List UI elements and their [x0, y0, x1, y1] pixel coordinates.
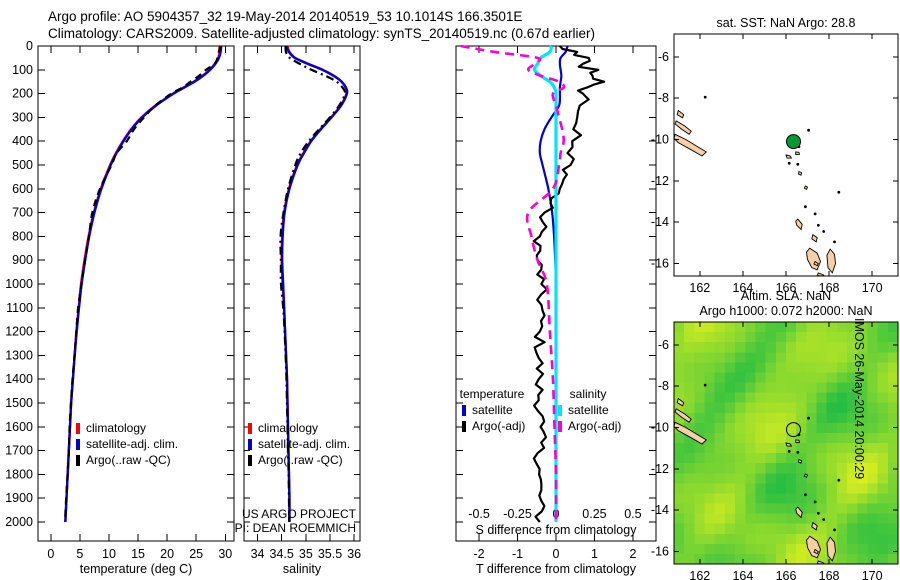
depth-tick-label: 400 [12, 134, 33, 148]
sla-cell [878, 453, 889, 464]
sla-cell [755, 493, 766, 504]
sla-cell [878, 413, 889, 424]
sla-cell [755, 403, 766, 414]
sla-cell [837, 554, 848, 565]
latitude-tick-label: -6 [658, 50, 669, 64]
sla-cell [745, 514, 756, 525]
depth-tick-label: 100 [12, 63, 33, 77]
sla-cell [867, 413, 878, 424]
sla-cell [786, 352, 797, 363]
difference-series-2 [534, 46, 556, 522]
sla-cell [867, 342, 878, 353]
temperature-legend: climatologysatellite-adj. clim.Argo(..ra… [76, 421, 178, 467]
sla-cell [705, 352, 716, 363]
sla-cell [817, 383, 828, 394]
sla-cell [725, 372, 736, 383]
sla-cell [888, 413, 899, 424]
sla-cell [745, 423, 756, 434]
sla-cell [684, 453, 695, 464]
sla-cell [796, 403, 807, 414]
legend-swatch [558, 405, 562, 416]
sla-cell [867, 372, 878, 383]
sla-cell [745, 524, 756, 535]
sla-cell [837, 352, 848, 363]
sla-cell [674, 342, 685, 353]
sla-cell [796, 463, 807, 474]
sla-cell [827, 493, 838, 504]
island-speck [804, 493, 807, 496]
sla-cell [725, 453, 736, 464]
sla-cell [674, 362, 685, 373]
sla-cell [786, 413, 797, 424]
sla-cell [786, 473, 797, 484]
latitude-tick-label: -8 [658, 91, 669, 105]
island-speck [822, 230, 825, 233]
sla-cell [786, 322, 797, 333]
sla-cell [827, 453, 838, 464]
sla-cell [715, 483, 726, 494]
sla-cell [827, 524, 838, 535]
island-speck [704, 384, 707, 387]
sla-cell [766, 514, 777, 525]
sst-map-panel: sat. SST: NaN Argo: 28.8 162164166168170… [640, 10, 900, 300]
sla-cell [674, 443, 685, 454]
sla-cell [715, 342, 726, 353]
sla-cell [735, 322, 746, 333]
sla-cell [878, 493, 889, 504]
sla-cell [817, 332, 828, 343]
sla-cell [766, 554, 777, 565]
sla-cell [837, 544, 848, 555]
sla-cell [867, 362, 878, 373]
sla-cell [725, 493, 736, 504]
sla-cell [694, 332, 705, 343]
sla-cell [867, 393, 878, 404]
sla-cell [684, 504, 695, 515]
sla-cell [837, 453, 848, 464]
sla-cell [878, 403, 889, 414]
sla-cell [867, 524, 878, 535]
sla-cell [755, 413, 766, 424]
sla-cell [817, 362, 828, 373]
sla-cell [725, 534, 736, 545]
sla-cell [806, 383, 817, 394]
sla-cell [755, 362, 766, 373]
longitude-tick-label: 168 [819, 569, 840, 580]
difference-series-3 [461, 46, 564, 522]
sla-cell [694, 383, 705, 394]
sla-cell [735, 483, 746, 494]
sla-cell [888, 443, 899, 454]
sla-cell [705, 362, 716, 373]
sla-cell [837, 383, 848, 394]
sla-cell [725, 322, 736, 333]
sla-cell [735, 403, 746, 414]
sla-cell [735, 423, 746, 434]
sla-cell [827, 332, 838, 343]
sla-cell [755, 393, 766, 404]
sla-cell [694, 473, 705, 484]
sla-cell [715, 524, 726, 535]
sla-cell [806, 362, 817, 373]
difference-series-0 [540, 46, 568, 522]
sla-cell [827, 504, 838, 515]
sla-cell [705, 433, 716, 444]
sla-cell [796, 544, 807, 555]
sla-cell [827, 423, 838, 434]
sla-cell [878, 393, 889, 404]
salinity-tick-label: 34.5 [270, 547, 294, 561]
sla-cell [817, 443, 828, 454]
sla-cell [776, 322, 787, 333]
sla-cell [827, 322, 838, 333]
sla-cell [684, 322, 695, 333]
sla-cell [715, 372, 726, 383]
island-speck [833, 241, 836, 244]
latitude-tick-label: -14 [651, 215, 669, 229]
sla-cell [694, 453, 705, 464]
sla-cell [766, 433, 777, 444]
sla-cell [796, 322, 807, 333]
sla-cell [684, 483, 695, 494]
sla-cell [776, 554, 787, 565]
sla-cell [806, 423, 817, 434]
island-speck [796, 163, 799, 166]
sla-cell [735, 362, 746, 373]
sla-cell [715, 514, 726, 525]
sla-cell [796, 362, 807, 373]
sla-cell [735, 514, 746, 525]
sla-cell [837, 433, 848, 444]
sla-cell [766, 352, 777, 363]
sla-cell [786, 544, 797, 555]
sla-cell [878, 463, 889, 474]
sla-cell [755, 453, 766, 464]
island-speck [814, 213, 817, 216]
sla-cell [776, 393, 787, 404]
s-difference-tick-label: 0.25 [582, 507, 606, 521]
sla-cell [817, 493, 828, 504]
sla-cell [694, 362, 705, 373]
sla-cell [776, 534, 787, 545]
sla-cell [786, 493, 797, 504]
sla-cell [684, 514, 695, 525]
sla-cell [715, 453, 726, 464]
sla-cell [878, 443, 889, 454]
sla-cell [745, 534, 756, 545]
sla-cell [888, 362, 899, 373]
sla-cell [776, 433, 787, 444]
sla-cell [735, 342, 746, 353]
sla-cell [735, 524, 746, 535]
sla-cell [878, 352, 889, 363]
sla-cell [878, 362, 889, 373]
sla-cell [837, 403, 848, 414]
sla-cell [837, 443, 848, 454]
island-speck [833, 529, 836, 532]
depth-tick-label: 2000 [5, 515, 33, 529]
t-difference-tick-label: 2 [629, 547, 636, 561]
sla-cell [745, 372, 756, 383]
depth-tick-label: 800 [12, 229, 33, 243]
sla-cell [755, 352, 766, 363]
sla-cell [674, 524, 685, 535]
sla-cell [878, 534, 889, 545]
legend-swatch [248, 439, 252, 450]
sla-cell [745, 403, 756, 414]
sla-cell [776, 383, 787, 394]
sla-cell [827, 473, 838, 484]
sla-cell [806, 453, 817, 464]
sla-cell [715, 423, 726, 434]
depth-tick-label: 1800 [5, 467, 33, 481]
sla-cell [817, 463, 828, 474]
sla-cell [817, 393, 828, 404]
sla-cell [786, 372, 797, 383]
sla-cell [725, 463, 736, 474]
sla-cell [786, 423, 797, 434]
temperature-tick-label: 15 [131, 547, 145, 561]
legend-label: satellite [568, 403, 609, 417]
sla-cell [684, 393, 695, 404]
sla-cell [837, 362, 848, 373]
sla-cell [796, 332, 807, 343]
sla-cell [684, 443, 695, 454]
sla-cell [705, 514, 716, 525]
sla-cell [715, 433, 726, 444]
legend-label: satellite-adj. clim. [258, 437, 350, 451]
sla-cell [674, 514, 685, 525]
sla-cell [776, 443, 787, 454]
island-polygon [799, 172, 802, 176]
sla-cell [817, 413, 828, 424]
salinity-axis-label: salinity [283, 562, 322, 576]
page-title: Argo profile: AO 5904357_32 19-May-2014 … [48, 8, 595, 42]
sla-cell [725, 362, 736, 373]
sla-cell [674, 554, 685, 565]
sla-cell [817, 342, 828, 353]
sla-cell [806, 483, 817, 494]
sla-cell [745, 332, 756, 343]
sla-cell [735, 352, 746, 363]
sla-cell [735, 332, 746, 343]
depth-tick-label: 300 [12, 110, 33, 124]
sla-cell [735, 463, 746, 474]
sla-cell [684, 403, 695, 414]
sla-cell [806, 463, 817, 474]
depth-tick-label: 700 [12, 206, 33, 220]
salinity-difference-axis-label: S difference from climatology [476, 523, 638, 537]
legend-swatch [248, 455, 252, 466]
credit-line-2: PI: DEAN ROEMMICH [235, 521, 356, 535]
sla-cell [735, 372, 746, 383]
sla-cell [837, 514, 848, 525]
island-speck [822, 518, 825, 521]
sla-cell [725, 342, 736, 353]
legend-swatch [76, 439, 80, 450]
sla-cell [796, 352, 807, 363]
sla-cell [715, 352, 726, 363]
sla-cell [888, 483, 899, 494]
sla-cell [827, 433, 838, 444]
sla-cell [766, 443, 777, 454]
sla-cell [715, 393, 726, 404]
sla-cell [806, 403, 817, 414]
sla-cell [766, 423, 777, 434]
sla-cell [786, 393, 797, 404]
sla-cell [888, 514, 899, 525]
sla-cell [745, 483, 756, 494]
sla-cell [725, 554, 736, 565]
sla-cell [786, 554, 797, 565]
sla-cell [735, 554, 746, 565]
salinity-tick-label: 35 [299, 547, 313, 561]
sla-cell [694, 544, 705, 555]
sla-cell [674, 453, 685, 464]
sla-cell [705, 423, 716, 434]
sla-cell [837, 342, 848, 353]
temperature-difference-axis-label: T difference from climatology [476, 562, 637, 576]
salinity-legend: climatologysatellite-adj. clim.Argo(..ra… [248, 421, 350, 467]
sla-cell [888, 372, 899, 383]
sla-cell [837, 483, 848, 494]
sla-cell [766, 372, 777, 383]
sla-cell [878, 342, 889, 353]
sla-cell [878, 433, 889, 444]
legend-label: satellite-adj. clim. [86, 437, 178, 451]
sla-cell [806, 352, 817, 363]
sla-cell [766, 383, 777, 394]
sla-cell [827, 483, 838, 494]
sla-cell [806, 443, 817, 454]
difference-series-1 [534, 46, 604, 522]
sla-cell [817, 433, 828, 444]
sla-cell [888, 403, 899, 414]
island-speck [788, 450, 791, 453]
sla-cell [705, 322, 716, 333]
sla-cell [684, 473, 695, 484]
sla-cell [776, 483, 787, 494]
sla-cell [827, 403, 838, 414]
sla-cell [694, 443, 705, 454]
sla-cell [715, 322, 726, 333]
sla-cell [806, 393, 817, 404]
sla-cell [766, 393, 777, 404]
sla-cell [776, 493, 787, 504]
sla-cell [888, 453, 899, 464]
sla-cell [888, 524, 899, 535]
sla-map-title-line-1: Altim. SLA: NaN [741, 289, 831, 303]
temperature-profile-panel: 0100200300400500600700800900100011001200… [0, 40, 240, 580]
sla-cell [745, 504, 756, 515]
sla-cell [776, 514, 787, 525]
sla-cell [776, 544, 787, 555]
temperature-tick-label: 5 [76, 547, 83, 561]
sla-cell [786, 483, 797, 494]
legend-swatch [248, 423, 252, 434]
legend-column-title: temperature [460, 387, 525, 401]
sla-cell [817, 483, 828, 494]
sla-cell [878, 332, 889, 343]
sla-cell [755, 473, 766, 484]
sla-cell [766, 413, 777, 424]
island-polygon [796, 440, 800, 443]
depth-tick-label: 500 [12, 158, 33, 172]
sla-cell [766, 403, 777, 414]
sla-cell [837, 493, 848, 504]
legend-swatch [558, 421, 562, 432]
sla-cell [755, 423, 766, 434]
sla-cell [806, 322, 817, 333]
sla-cell [867, 554, 878, 565]
sla-cell [755, 372, 766, 383]
sla-cell [745, 352, 756, 363]
depth-tick-label: 1200 [5, 325, 33, 339]
sla-cell [684, 554, 695, 565]
sla-cell [867, 453, 878, 464]
sla-cell [766, 483, 777, 494]
sla-cell [694, 483, 705, 494]
sla-cell [715, 403, 726, 414]
sla-cell [725, 352, 736, 363]
sla-cell [755, 554, 766, 565]
sla-cell [735, 473, 746, 484]
sla-cell [735, 504, 746, 515]
sla-cell [827, 372, 838, 383]
sla-cell [776, 413, 787, 424]
sla-cell [694, 393, 705, 404]
sla-cell [776, 342, 787, 353]
sla-cell [755, 544, 766, 555]
sla-cell [674, 534, 685, 545]
sla-cell [827, 514, 838, 525]
legend-column-title: salinity [570, 387, 607, 401]
sla-cell [817, 524, 828, 535]
sla-cell [694, 493, 705, 504]
sla-cell [725, 423, 736, 434]
sla-cell [878, 544, 889, 555]
sla-cell [725, 433, 736, 444]
sla-cell [867, 473, 878, 484]
sst-profile-marker[interactable] [787, 135, 801, 149]
sla-cell [827, 463, 838, 474]
sla-cell [837, 423, 848, 434]
sla-cell [806, 433, 817, 444]
sla-cell [867, 332, 878, 343]
sla-cell [766, 524, 777, 535]
sla-cell [735, 534, 746, 545]
sla-cell [776, 362, 787, 373]
sla-cell [684, 463, 695, 474]
sla-cell [735, 433, 746, 444]
temperature-tick-label: 25 [189, 547, 203, 561]
sla-cell [705, 453, 716, 464]
sla-cell [766, 473, 777, 484]
sla-cell [786, 524, 797, 535]
island-speck [837, 191, 840, 194]
sla-cell [755, 534, 766, 545]
sla-cell [674, 372, 685, 383]
sla-cell [725, 483, 736, 494]
sla-cell [827, 383, 838, 394]
temperature-tick-label: 20 [160, 547, 174, 561]
sla-cell [735, 393, 746, 404]
sla-cell [715, 332, 726, 343]
longitude-tick-label: 166 [776, 569, 797, 580]
latitude-tick-label: -16 [651, 257, 669, 271]
difference-curves [461, 46, 604, 522]
sla-cell [745, 453, 756, 464]
